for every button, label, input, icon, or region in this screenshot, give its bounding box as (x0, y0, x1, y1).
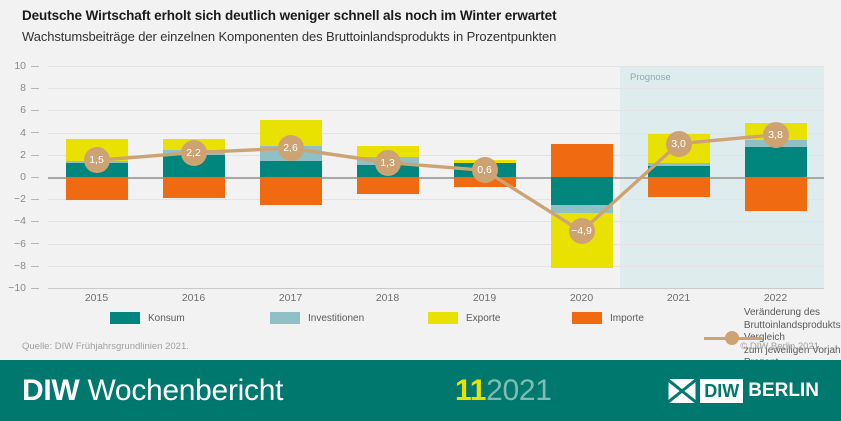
gdp-value-marker-2015: 1,5 (84, 147, 110, 173)
brand-footer: DIW Wochenbericht 112021 DIW BERLIN (0, 360, 841, 421)
y-tick-label--8: −8 (14, 260, 39, 272)
legend-label-konsum: Konsum (148, 313, 185, 324)
y-tick-label--2: −2 (14, 193, 39, 205)
footer-title-rest: Wochenbericht (79, 374, 283, 407)
legend-swatch-konsum (110, 312, 140, 324)
issue-number: 11 (455, 374, 486, 407)
legend-label-investitionen: Investitionen (308, 313, 364, 324)
chart-legend: KonsumInvestitionenExporteImporteVerände… (48, 311, 838, 343)
issue-year: 2021 (486, 374, 552, 407)
gdp-value-marker-2021: 3,0 (666, 131, 692, 157)
footer-title-bold: DIW (22, 374, 79, 407)
page-title: Deutsche Wirtschaft erholt sich deutlich… (22, 8, 556, 23)
brand-diw-text: DIW (700, 379, 743, 403)
x-axis-label-2018: 2018 (376, 292, 399, 304)
x-axis-label-2017: 2017 (279, 292, 302, 304)
x-axis-label-2015: 2015 (85, 292, 108, 304)
x-axis-labels: 20152016201720182019202020212022 (48, 292, 824, 308)
x-axis-label-2016: 2016 (182, 292, 205, 304)
x-axis-label-2020: 2020 (570, 292, 593, 304)
source-note: Quelle: DIW Frühjahrsgrundlinien 2021. (22, 341, 189, 352)
y-tick-label--10: −10 (8, 282, 39, 294)
copyright-note: © DIW Berlin 2021 (740, 341, 819, 352)
x-axis-label-2019: 2019 (473, 292, 496, 304)
gdp-value-marker-2019: 0,6 (472, 157, 498, 183)
y-tick-label-6: 6 (20, 104, 39, 116)
y-tick-label-4: 4 (20, 127, 39, 139)
gridline--10 (48, 288, 824, 289)
y-tick-label--6: −6 (14, 238, 39, 250)
y-tick-label--4: −4 (14, 215, 39, 227)
x-axis-label-2022: 2022 (764, 292, 787, 304)
y-tick-label-8: 8 (20, 82, 39, 94)
legend-swatch-importe (572, 312, 602, 324)
legend-label-exporte: Exporte (466, 313, 500, 324)
chart-figure: Deutsche Wirtschaft erholt sich deutlich… (0, 0, 841, 421)
gdp-value-marker-2018: 1,3 (375, 150, 401, 176)
legend-item-exporte: Exporte (428, 312, 500, 324)
legend-item-investitionen: Investitionen (270, 312, 364, 324)
y-tick-label-0: 0 (20, 171, 39, 183)
legend-line-marker-icon (704, 331, 735, 345)
legend-swatch-exporte (428, 312, 458, 324)
x-axis-label-2021: 2021 (667, 292, 690, 304)
plot-area: Prognose 1086420−2−4−6−8−10 1,52,22,61,3… (48, 66, 824, 288)
gdp-value-marker-2016: 2,2 (181, 140, 207, 166)
footer-issue: 112021 (455, 374, 552, 408)
gdp-value-marker-2020: −4,9 (569, 218, 595, 244)
gdp-value-marker-2022: 3,8 (763, 122, 789, 148)
diw-logo-glyph (667, 379, 697, 403)
footer-title: DIW Wochenbericht (22, 374, 283, 408)
legend-swatch-investitionen (270, 312, 300, 324)
brand-berlin-text: BERLIN (748, 380, 819, 402)
diw-berlin-logo: DIW BERLIN (667, 377, 819, 405)
legend-item-konsum: Konsum (110, 312, 185, 324)
y-tick-label-2: 2 (20, 149, 39, 161)
gdp-value-marker-2017: 2,6 (278, 135, 304, 161)
gdp-line (48, 66, 824, 288)
diw-logo-mark (667, 379, 697, 403)
y-tick-label-10: 10 (14, 60, 39, 72)
legend-item-importe: Importe (572, 312, 644, 324)
legend-label-importe: Importe (610, 313, 644, 324)
page-subtitle: Wachstumsbeiträge der einzelnen Komponen… (22, 29, 556, 44)
